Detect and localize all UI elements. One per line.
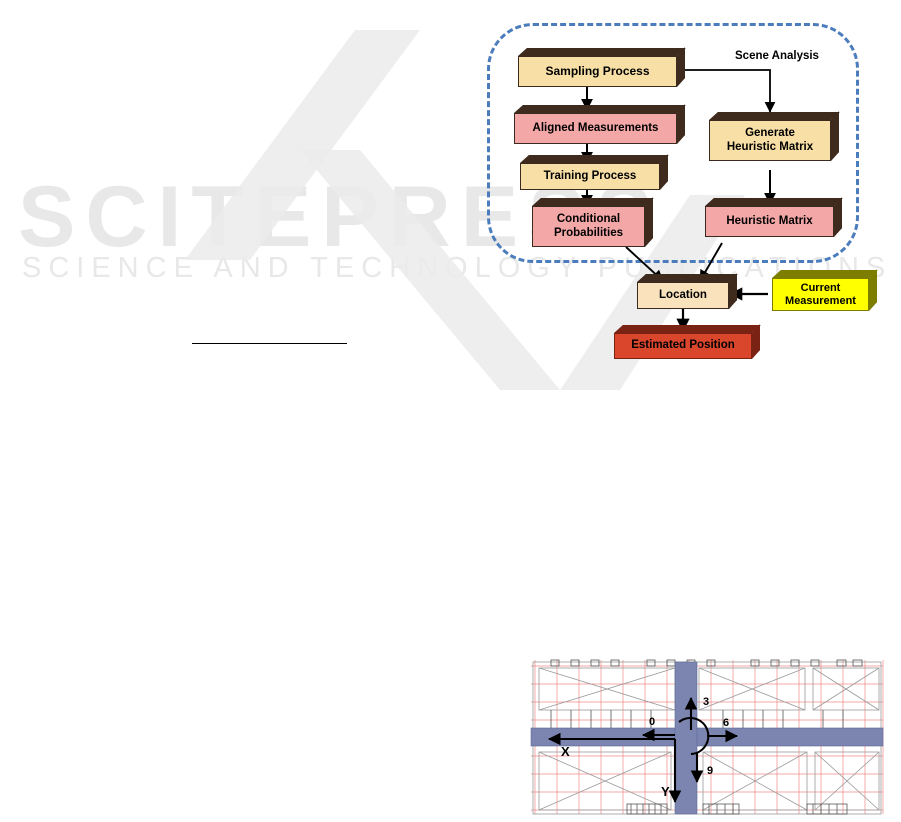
node-sampling-process[interactable]: Sampling Process [518,56,677,87]
floorplan-svg: 0 3 6 9 X Y [527,652,887,818]
direction-label-3: 3 [703,696,709,708]
node-label-line2: Measurement [785,295,856,308]
node-conditional-probabilities[interactable]: Conditional Probabilities [532,206,645,247]
system-architecture-diagram: Scene Analysis Sampling Process Aligned … [0,0,901,400]
node-label: Heuristic Matrix [726,215,812,228]
node-location[interactable]: Location [637,282,729,309]
node-label-line2: Heuristic Matrix [727,141,813,154]
node-current-measurement[interactable]: Current Measurement [772,278,869,311]
box-top-face [514,105,686,113]
scene-analysis-label: Scene Analysis [735,50,819,62]
node-label-line2: Probabilities [554,227,623,240]
node-label: Sampling Process [545,65,649,79]
node-aligned-measurements[interactable]: Aligned Measurements [514,113,677,144]
node-training-process[interactable]: Training Process [520,163,660,190]
box-top-face [614,325,761,333]
node-label: Generate [745,127,795,140]
footnote-separator [192,343,347,344]
direction-label-9: 9 [707,765,713,777]
node-generate-heuristic-matrix[interactable]: Generate Heuristic Matrix [709,120,831,161]
node-heuristic-matrix[interactable]: Heuristic Matrix [705,206,834,237]
box-top-face [637,274,738,282]
node-label: Training Process [544,170,637,183]
axis-label-y: Y [661,784,670,799]
node-label: Estimated Position [631,339,735,352]
box-top-face [772,270,878,278]
box-top-face [518,48,686,56]
floorplan-figure: 0 3 6 9 X Y [527,652,887,818]
box-top-face [520,155,669,163]
node-label: Aligned Measurements [533,122,659,135]
node-label: Location [659,289,707,302]
arrow-scene-analysis [677,70,770,112]
box-top-face [532,198,654,206]
direction-label-6: 6 [723,717,729,729]
node-estimated-position[interactable]: Estimated Position [614,333,752,359]
box-top-face [709,112,840,120]
node-label: Current [801,282,841,295]
box-top-face [705,198,843,206]
axis-label-x: X [561,744,570,759]
direction-label-0: 0 [649,716,655,728]
node-label: Conditional [557,213,620,226]
